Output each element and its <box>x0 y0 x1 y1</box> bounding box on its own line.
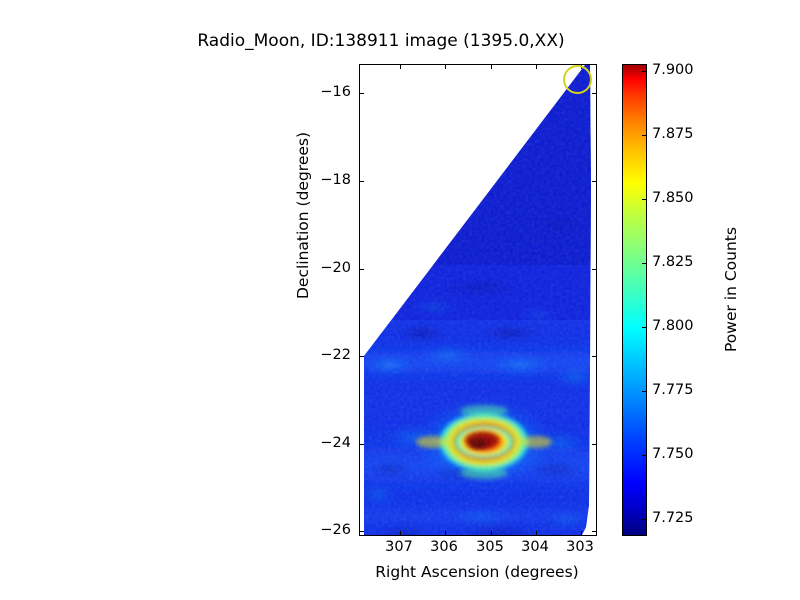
y-tick-right-m16 <box>592 93 596 94</box>
x-tick-top-306 <box>445 65 446 69</box>
colorbar[interactable] <box>622 64 647 536</box>
cb-tick-7875 <box>642 135 647 136</box>
radio-sky-heatmap <box>360 65 596 535</box>
x-tick-top-307 <box>400 65 401 69</box>
y-tick-m20 <box>360 269 364 270</box>
y-tick-right-m18 <box>592 181 596 182</box>
cb-ticklabel-7900: 7.900 <box>652 62 694 78</box>
x-tick-306 <box>445 531 446 535</box>
y-tick-m26 <box>360 531 364 532</box>
y-tick-m18 <box>360 181 364 182</box>
cb-tick-7825 <box>642 263 647 264</box>
y-ticklabel-m16: −16 <box>291 84 351 100</box>
cb-tick-7775 <box>642 391 647 392</box>
y-axis-label: Declination (degrees) <box>294 132 312 299</box>
cb-ticklabel-7775: 7.775 <box>652 382 694 398</box>
y-tick-right-m20 <box>592 269 596 270</box>
x-ticklabel-303: 303 <box>550 539 610 555</box>
colorbar-label: Power in Counts <box>722 227 740 352</box>
x-axis-label: Right Ascension (degrees) <box>359 563 595 581</box>
moon-position-circle-icon <box>563 65 592 94</box>
cb-tick-7750 <box>642 455 647 456</box>
cb-tick-7725 <box>642 519 647 520</box>
cb-tick-7900 <box>642 71 647 72</box>
cb-ticklabel-7800: 7.800 <box>652 318 694 334</box>
y-tick-right-m22 <box>592 356 596 357</box>
x-tick-top-305 <box>491 65 492 69</box>
cb-ticklabel-7750: 7.750 <box>652 446 694 462</box>
cb-ticklabel-7725: 7.725 <box>652 510 694 526</box>
cb-ticklabel-7850: 7.850 <box>652 190 694 206</box>
page-title: Radio_Moon, ID:138911 image (1395.0,XX) <box>0 31 781 51</box>
cb-ticklabel-7875: 7.875 <box>652 126 694 142</box>
cb-tick-7850 <box>642 199 647 200</box>
x-tick-304 <box>536 531 537 535</box>
y-ticklabel-m24: −24 <box>291 435 351 451</box>
y-tick-m22 <box>360 356 364 357</box>
x-tick-305 <box>491 531 492 535</box>
y-tick-right-m26 <box>592 531 596 532</box>
y-tick-m24 <box>360 444 364 445</box>
x-tick-303 <box>581 531 582 535</box>
figure-canvas: Radio_Moon, ID:138911 image (1395.0,XX) <box>0 0 800 600</box>
sky-map-axes[interactable] <box>359 64 597 536</box>
y-tick-m16 <box>360 93 364 94</box>
sky-map-clip <box>360 65 596 535</box>
y-tick-right-m24 <box>592 444 596 445</box>
y-ticklabel-m26: −26 <box>291 522 351 538</box>
x-tick-top-304 <box>536 65 537 69</box>
y-ticklabel-m22: −22 <box>291 347 351 363</box>
x-tick-307 <box>400 531 401 535</box>
cb-ticklabel-7825: 7.825 <box>652 254 694 270</box>
cb-tick-7800 <box>642 327 647 328</box>
